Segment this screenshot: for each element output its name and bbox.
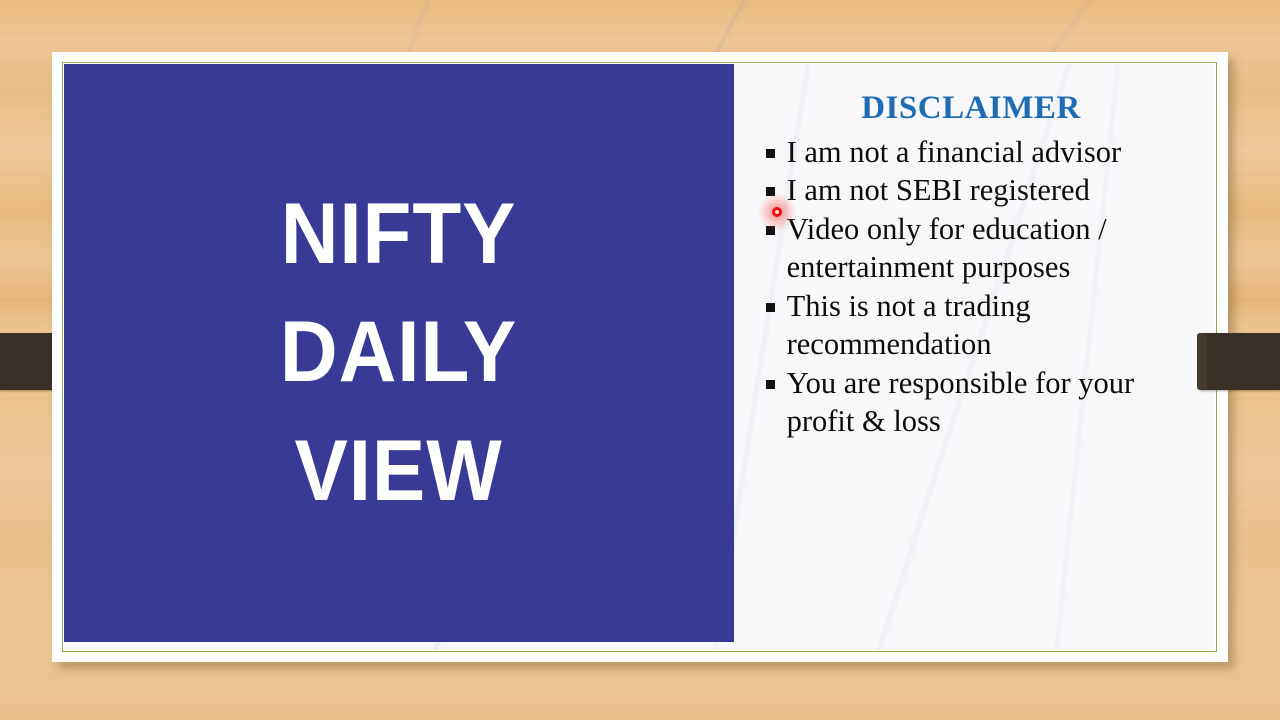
list-item: Video only for education / entertainment… — [759, 210, 1198, 287]
list-item-label: This is not a trading recommendation — [787, 289, 1031, 362]
disclaimer-list: I am not a financial advisor I am not SE… — [759, 133, 1198, 441]
list-item-label: Video only for education / entertainment… — [787, 212, 1107, 285]
list-item-label: I am not SEBI registered — [787, 173, 1090, 207]
list-item-label: I am not a financial advisor — [787, 135, 1122, 169]
presentation-slide[interactable]: NIFTY DAILY VIEW DISCLAIMER I am not a f… — [52, 52, 1228, 662]
list-item: I am not SEBI registered — [759, 171, 1198, 210]
title-panel: NIFTY DAILY VIEW — [64, 64, 734, 642]
cursor-ring-icon — [772, 207, 782, 217]
square-bullet-icon — [766, 149, 775, 158]
dark-band-cap — [1197, 333, 1207, 390]
square-bullet-icon — [766, 303, 775, 312]
dark-band-right — [1200, 333, 1280, 390]
list-item-label: You are responsible for your profit & lo… — [787, 366, 1135, 439]
disclaimer-heading: DISCLAIMER — [759, 90, 1198, 127]
list-item: I am not a financial advisor — [759, 133, 1198, 172]
square-bullet-icon — [766, 380, 775, 389]
list-item: This is not a trading recommendation — [759, 287, 1198, 364]
disclaimer-column: DISCLAIMER I am not a financial advisor … — [734, 64, 1216, 651]
slide-canvas: NIFTY DAILY VIEW DISCLAIMER I am not a f… — [64, 64, 1216, 651]
slide-title: NIFTY DAILY VIEW — [280, 175, 517, 531]
list-item: You are responsible for your profit & lo… — [759, 364, 1198, 441]
